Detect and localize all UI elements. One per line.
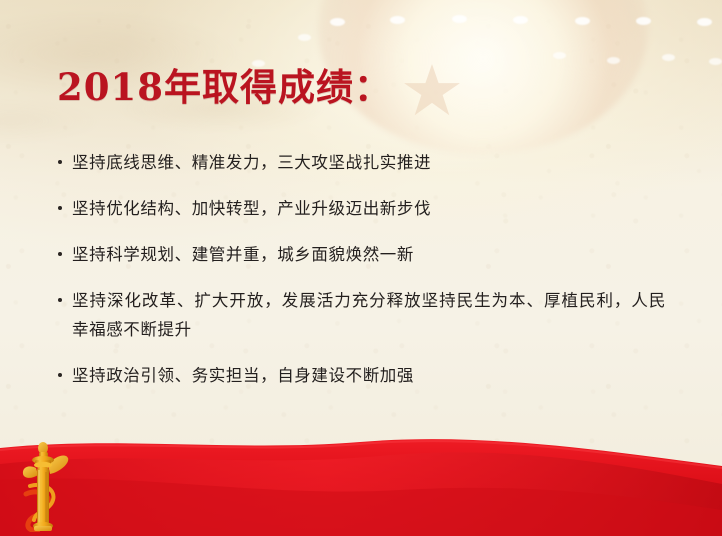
dot-icon <box>575 17 590 25</box>
bullet-dot-icon <box>58 373 62 377</box>
achievements-list: 坚持底线思维、精准发力，三大攻坚战扎实推进 坚持优化结构、加快转型，产业升级迈出… <box>56 148 666 390</box>
dot-icon <box>636 17 651 25</box>
list-item-text: 坚持优化结构、加快转型，产业升级迈出新步伐 <box>72 199 431 218</box>
list-item: 坚持政治引领、务实担当，自身建设不断加强 <box>56 361 666 390</box>
list-item: 坚持优化结构、加快转型，产业升级迈出新步伐 <box>56 194 666 223</box>
list-item: 坚持底线思维、精准发力，三大攻坚战扎实推进 <box>56 148 666 177</box>
bullet-dot-icon <box>58 160 62 164</box>
bullet-dot-icon <box>58 298 62 302</box>
list-item: 坚持深化改革、扩大开放，发展活力充分释放坚持民生为本、厚植民利，人民幸福感不断提… <box>56 286 666 344</box>
huabiao-graphic <box>14 434 76 532</box>
list-item-text: 坚持科学规划、建管并重，城乡面貌焕然一新 <box>72 245 414 264</box>
ribbon-graphic <box>0 406 722 536</box>
list-item: 坚持科学规划、建管并重，城乡面貌焕然一新 <box>56 240 666 269</box>
red-ribbon-wave <box>0 406 722 536</box>
list-item-text: 坚持政治引领、务实担当，自身建设不断加强 <box>72 366 414 385</box>
dot-icon <box>513 16 528 24</box>
dot-icon <box>553 52 566 59</box>
bullet-dot-icon <box>58 252 62 256</box>
dot-icon <box>390 16 405 24</box>
dot-icon <box>330 18 345 26</box>
bullet-dot-icon <box>58 206 62 210</box>
dot-icon <box>298 34 311 41</box>
dot-icon <box>709 58 722 65</box>
huabiao-column-icon <box>14 434 76 532</box>
dot-icon <box>607 57 620 64</box>
list-item-text: 坚持底线思维、精准发力，三大攻坚战扎实推进 <box>72 153 431 172</box>
page-title: 2018年取得成绩： <box>57 57 392 111</box>
presentation-slide: 2018年取得成绩： 坚持底线思维、精准发力，三大攻坚战扎实推进 坚持优化结构、… <box>0 0 722 536</box>
list-item-text: 坚持深化改革、扩大开放，发展活力充分释放坚持民生为本、厚植民利，人民幸福感不断提… <box>72 291 666 339</box>
dot-icon <box>452 15 467 23</box>
dot-icon <box>697 18 712 26</box>
dot-icon <box>662 54 675 61</box>
